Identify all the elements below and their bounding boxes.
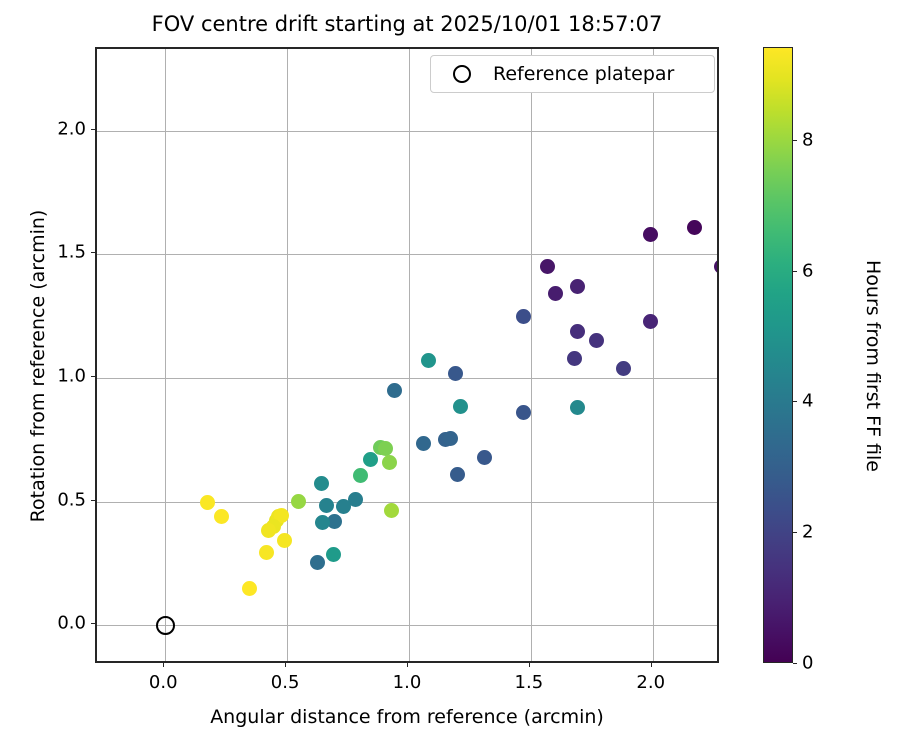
scatter-point [714, 259, 720, 274]
y-tick-label: 0.5 [57, 489, 86, 510]
y-tick [91, 623, 95, 624]
scatter-point [291, 494, 306, 509]
scatter-point [643, 227, 658, 242]
x-tick-label: 2.0 [636, 672, 665, 693]
legend: Reference platepar [430, 55, 715, 93]
legend-marker-wrap [431, 65, 493, 83]
scatter-point [567, 351, 582, 366]
scatter-point [421, 353, 436, 368]
colorbar-tick-label: 6 [802, 260, 813, 281]
gridline-vertical [653, 49, 654, 661]
y-tick-label: 2.0 [57, 118, 86, 139]
gridline-horizontal [97, 378, 717, 379]
y-tick-label: 1.5 [57, 242, 86, 263]
open-circle-icon [453, 65, 471, 83]
page-title: FOV centre drift starting at 2025/10/01 … [95, 12, 719, 36]
scatter-point [353, 468, 368, 483]
scatter-point [363, 452, 378, 467]
y-axis-label: Rotation from reference (arcmin) [27, 58, 49, 674]
gridline-vertical [287, 49, 288, 661]
y-tick-label: 0.0 [57, 613, 86, 634]
colorbar-tick [793, 401, 797, 402]
colorbar-tick-label: 2 [802, 522, 813, 543]
scatter-point [548, 286, 563, 301]
colorbar-tick [793, 140, 797, 141]
scatter-point [450, 467, 465, 482]
scatter-point [315, 515, 330, 530]
x-tick [285, 663, 286, 667]
x-tick-label: 1.0 [393, 672, 422, 693]
x-axis-label: Angular distance from reference (arcmin) [95, 706, 719, 728]
gridline-vertical [409, 49, 410, 661]
scatter-point [477, 450, 492, 465]
reference-platepar-marker [156, 616, 175, 635]
scatter-point [616, 361, 631, 376]
plot-area [95, 47, 719, 663]
scatter-point [448, 366, 463, 381]
scatter-point [259, 545, 274, 560]
colorbar-tick [793, 663, 797, 664]
colorbar-label: Hours from first FF file [862, 58, 884, 674]
scatter-point [443, 431, 458, 446]
x-tick [407, 663, 408, 667]
scatter-point [570, 279, 585, 294]
x-tick [163, 663, 164, 667]
colorbar: 02468 [763, 47, 793, 663]
scatter-point [570, 324, 585, 339]
colorbar-tick-label: 0 [802, 653, 813, 674]
x-tick-label: 0.5 [271, 672, 300, 693]
colorbar-gradient [763, 47, 793, 663]
colorbar-tick [793, 271, 797, 272]
scatter-point [570, 400, 585, 415]
colorbar-tick-label: 4 [802, 391, 813, 412]
gridline-vertical [165, 49, 166, 661]
gridline-vertical [531, 49, 532, 661]
figure-canvas: FOV centre drift starting at 2025/10/01 … [0, 0, 900, 750]
scatter-point [384, 503, 399, 518]
scatter-point [242, 581, 257, 596]
scatter-point [687, 220, 702, 235]
gridline-horizontal [97, 131, 717, 132]
scatter-point [336, 499, 351, 514]
x-tick-label: 1.5 [515, 672, 544, 693]
y-tick [91, 129, 95, 130]
scatter-point [516, 309, 531, 324]
scatter-point [387, 383, 402, 398]
scatter-point [378, 441, 393, 456]
scatter-point [516, 405, 531, 420]
scatter-point [310, 555, 325, 570]
scatter-point [453, 399, 468, 414]
scatter-point [200, 495, 215, 510]
scatter-point [319, 498, 334, 513]
y-tick [91, 376, 95, 377]
gridline-horizontal [97, 625, 717, 626]
scatter-point [382, 455, 397, 470]
x-tick-label: 0.0 [149, 672, 178, 693]
scatter-point [214, 509, 229, 524]
x-tick [651, 663, 652, 667]
legend-entry-label: Reference platepar [493, 63, 674, 85]
scatter-point [643, 314, 658, 329]
scatter-point [326, 547, 341, 562]
colorbar-tick-label: 8 [802, 129, 813, 150]
gridline-horizontal [97, 254, 717, 255]
gridline-horizontal [97, 502, 717, 503]
scatter-point [314, 476, 329, 491]
y-tick-label: 1.0 [57, 366, 86, 387]
x-tick [529, 663, 530, 667]
scatter-point [277, 533, 292, 548]
scatter-point [540, 259, 555, 274]
y-tick [91, 500, 95, 501]
scatter-point [416, 436, 431, 451]
scatter-point [261, 523, 276, 538]
colorbar-tick [793, 532, 797, 533]
y-tick [91, 252, 95, 253]
scatter-point [589, 333, 604, 348]
